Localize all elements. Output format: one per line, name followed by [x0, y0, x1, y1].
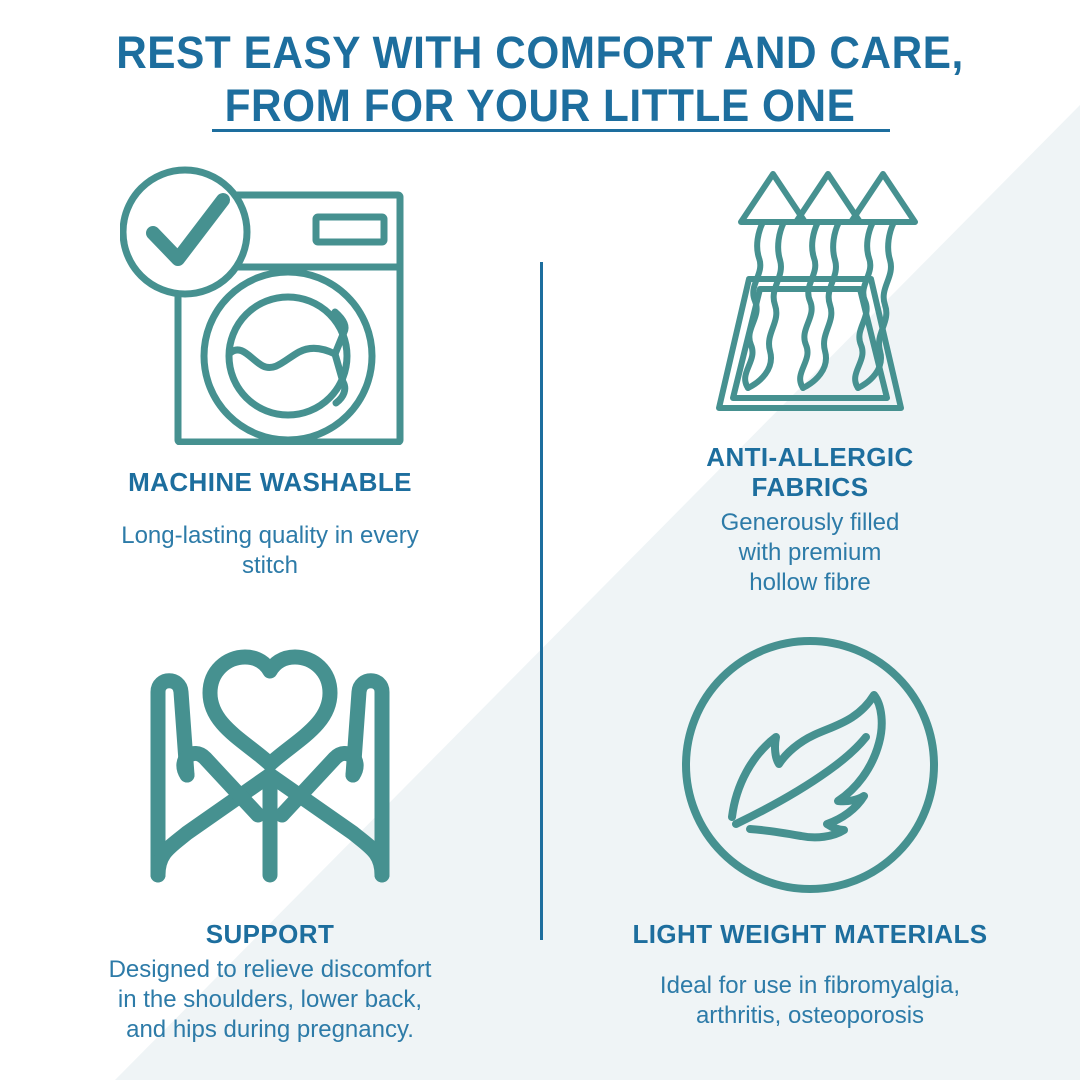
feature-light-weight: LIGHT WEIGHT MATERIALS Ideal for use in … — [560, 622, 1060, 1031]
feature-heading: ANTI-ALLERGIC FABRICS — [706, 442, 913, 502]
vertical-divider — [540, 262, 543, 940]
feature-anti-allergic: ANTI-ALLERGIC FABRICS Generously filled … — [560, 160, 1060, 598]
title-line-1: REST EASY WITH COMFORT AND CARE, — [32, 26, 1047, 79]
feature-machine-washable: MACHINE WASHABLE Long-lasting quality in… — [20, 160, 520, 581]
feature-heading: SUPPORT — [206, 919, 334, 949]
feature-body: Generously filled with premium hollow fi… — [721, 508, 900, 598]
hands-holding-heart-icon — [125, 622, 415, 907]
feature-support: SUPPORT Designed to relieve discomfort i… — [20, 622, 520, 1045]
feature-heading: LIGHT WEIGHT MATERIALS — [633, 919, 988, 949]
feature-body: Long-lasting quality in every stitch — [121, 521, 419, 581]
feature-body: Designed to relieve discomfort in the sh… — [109, 955, 432, 1045]
feature-body: Ideal for use in fibromyalgia, arthritis… — [660, 971, 960, 1031]
page-title: REST EASY WITH COMFORT AND CARE, FROM FO… — [0, 26, 1080, 132]
infographic-canvas: REST EASY WITH COMFORT AND CARE, FROM FO… — [0, 0, 1080, 1080]
title-line-2: FROM FOR YOUR LITTLE ONE — [32, 79, 1047, 132]
title-underline-rule — [212, 129, 890, 132]
breathable-fabric-airflow-icon — [675, 160, 945, 432]
feature-heading: MACHINE WASHABLE — [128, 467, 412, 497]
washing-machine-check-icon — [120, 160, 420, 445]
feather-in-circle-icon — [670, 622, 950, 907]
